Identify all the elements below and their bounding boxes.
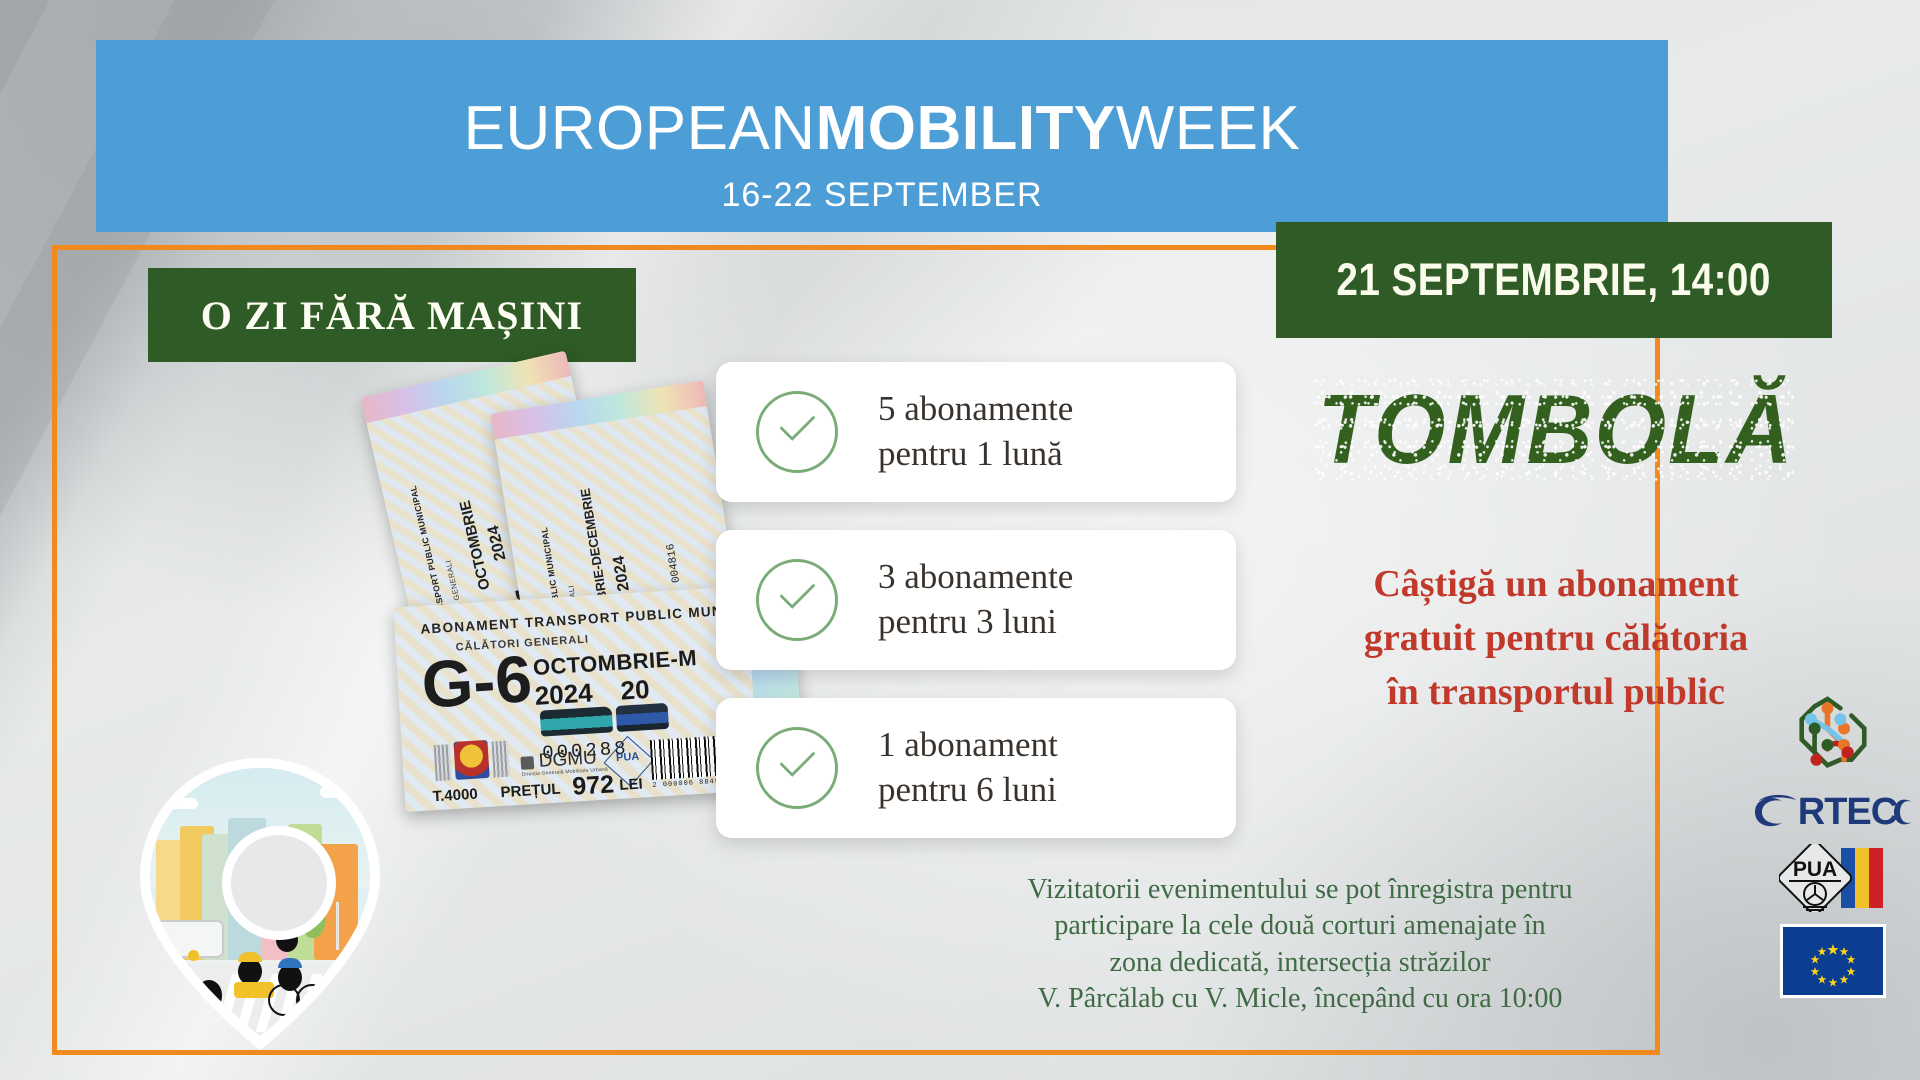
poster: EUROPEANMOBILITYWEEK 16-22 SEPTEMBER O Z… xyxy=(40,40,1672,1025)
mobility-map-pin-illustration xyxy=(140,758,380,1050)
european-union-flag xyxy=(1758,924,1908,998)
character-scooter-rider xyxy=(238,958,262,985)
crtec-logo: RTEC xyxy=(1758,792,1908,832)
event-info-line3: zona dedicată, intersecția străzilor xyxy=(895,945,1705,981)
pass-large-code: G-6 xyxy=(420,647,534,716)
prize-card-line1: 5 abonamente xyxy=(878,387,1073,432)
european-mobility-week-logo xyxy=(1758,688,1908,780)
bus-photo-icon xyxy=(540,706,613,736)
prize-card: 1 abonament pentru 6 luni xyxy=(716,698,1236,838)
bus-wheel xyxy=(188,950,199,961)
raffle-subtitle-line1: Câștigă un abonament xyxy=(1256,558,1856,612)
event-info-line2: participare la cele două corturi amenaja… xyxy=(895,908,1705,944)
pass-mid-year: 2024 xyxy=(610,554,633,592)
page-title: EUROPEANMOBILITYWEEK xyxy=(96,98,1668,160)
lamp-post xyxy=(336,902,339,950)
prize-card: 5 abonamente pentru 1 lună xyxy=(716,362,1236,502)
prize-card-text: 3 abonamente pentru 3 luni xyxy=(878,555,1073,645)
pass-large-price-value: 972 xyxy=(572,770,615,801)
eu-flag-icon xyxy=(1780,924,1886,998)
title-part-week: WEEK xyxy=(1116,94,1301,163)
event-info-text: Vizitatorii evenimentului se pot înregis… xyxy=(895,872,1705,1018)
badge-no-car-day-label: O ZI FĂRĂ MAȘINI xyxy=(201,292,584,339)
pin-center-hole xyxy=(222,826,336,940)
bus-wheel xyxy=(150,950,157,961)
prize-card-text: 1 abonament pentru 6 luni xyxy=(878,723,1058,813)
title-part-mobility: MOBILITY xyxy=(816,94,1116,163)
title-part-european: EUROPEAN xyxy=(464,94,816,163)
prize-card-line2: pentru 3 luni xyxy=(878,600,1073,645)
scooter-helmet xyxy=(238,952,262,962)
dgmu-mark-icon xyxy=(520,756,534,770)
header-dates: 16-22 SEPTEMBER xyxy=(96,176,1668,215)
pass-large-price-label: PREȚUL xyxy=(500,781,561,802)
check-circle-icon xyxy=(756,559,838,641)
pua-logo-text: PUA xyxy=(1793,858,1837,881)
raffle-heading: TOMBOLĂ xyxy=(1293,380,1819,478)
pass-mid-serial: 004816 xyxy=(665,543,683,584)
pass-large-year-2: 20 xyxy=(620,674,651,707)
prize-card-line2: pentru 6 luni xyxy=(878,768,1058,813)
city-crest-icon xyxy=(453,740,489,780)
logo-strip: RTEC PUA xyxy=(1758,688,1908,1010)
check-circle-icon xyxy=(756,391,838,473)
prize-card-line1: 3 abonamente xyxy=(878,555,1073,600)
pass-large-year: 2024 xyxy=(534,677,594,711)
badge-event-datetime: 21 SEPTEMBRIE, 14:00 xyxy=(1276,222,1832,338)
pass-large-print-run: T.4000 xyxy=(432,786,478,806)
pass-large-mark: PUA xyxy=(612,750,643,764)
pua-icon: PUA xyxy=(1779,844,1887,912)
raffle-heading-label: TOMBOLĂ xyxy=(1317,380,1794,478)
crtec-c-icon xyxy=(1894,792,1914,832)
emw-network-icon xyxy=(1787,688,1879,780)
building-left-icon xyxy=(434,744,452,781)
crtec-logo-mark: RTEC xyxy=(1752,792,1914,832)
pua-certification-logo: PUA xyxy=(1758,844,1908,912)
building-right-icon xyxy=(491,741,509,778)
check-circle-icon xyxy=(756,727,838,809)
event-info-line1: Vizitatorii evenimentului se pot înregis… xyxy=(895,872,1705,908)
badge-event-datetime-label: 21 SEPTEMBRIE, 14:00 xyxy=(1337,254,1771,306)
prize-card-line1: 1 abonament xyxy=(878,723,1058,768)
trolleybus-photo-icon xyxy=(616,703,669,732)
pass-small-year: 2024 xyxy=(485,524,511,563)
event-info-line4: V. Pârcălab cu V. Micle, începând cu ora… xyxy=(895,981,1705,1017)
crtec-logo-text: RTEC xyxy=(1798,793,1897,831)
prize-card-text: 5 abonamente pentru 1 lună xyxy=(878,387,1073,477)
pin-scene xyxy=(150,768,370,1036)
crtec-swoosh-icon xyxy=(1752,792,1798,832)
prize-card: 3 abonamente pentru 3 luni xyxy=(716,530,1236,670)
badge-no-car-day: O ZI FĂRĂ MAȘINI xyxy=(148,268,636,362)
pass-large-period: OCTOMBRIE-M xyxy=(532,645,697,681)
raffle-subtitle-line2: gratuit pentru călătoria xyxy=(1256,612,1856,666)
prize-card-line2: pentru 1 lună xyxy=(878,432,1073,477)
cyclist-helmet xyxy=(278,958,302,968)
pass-large-price-currency: LEI xyxy=(619,776,643,794)
